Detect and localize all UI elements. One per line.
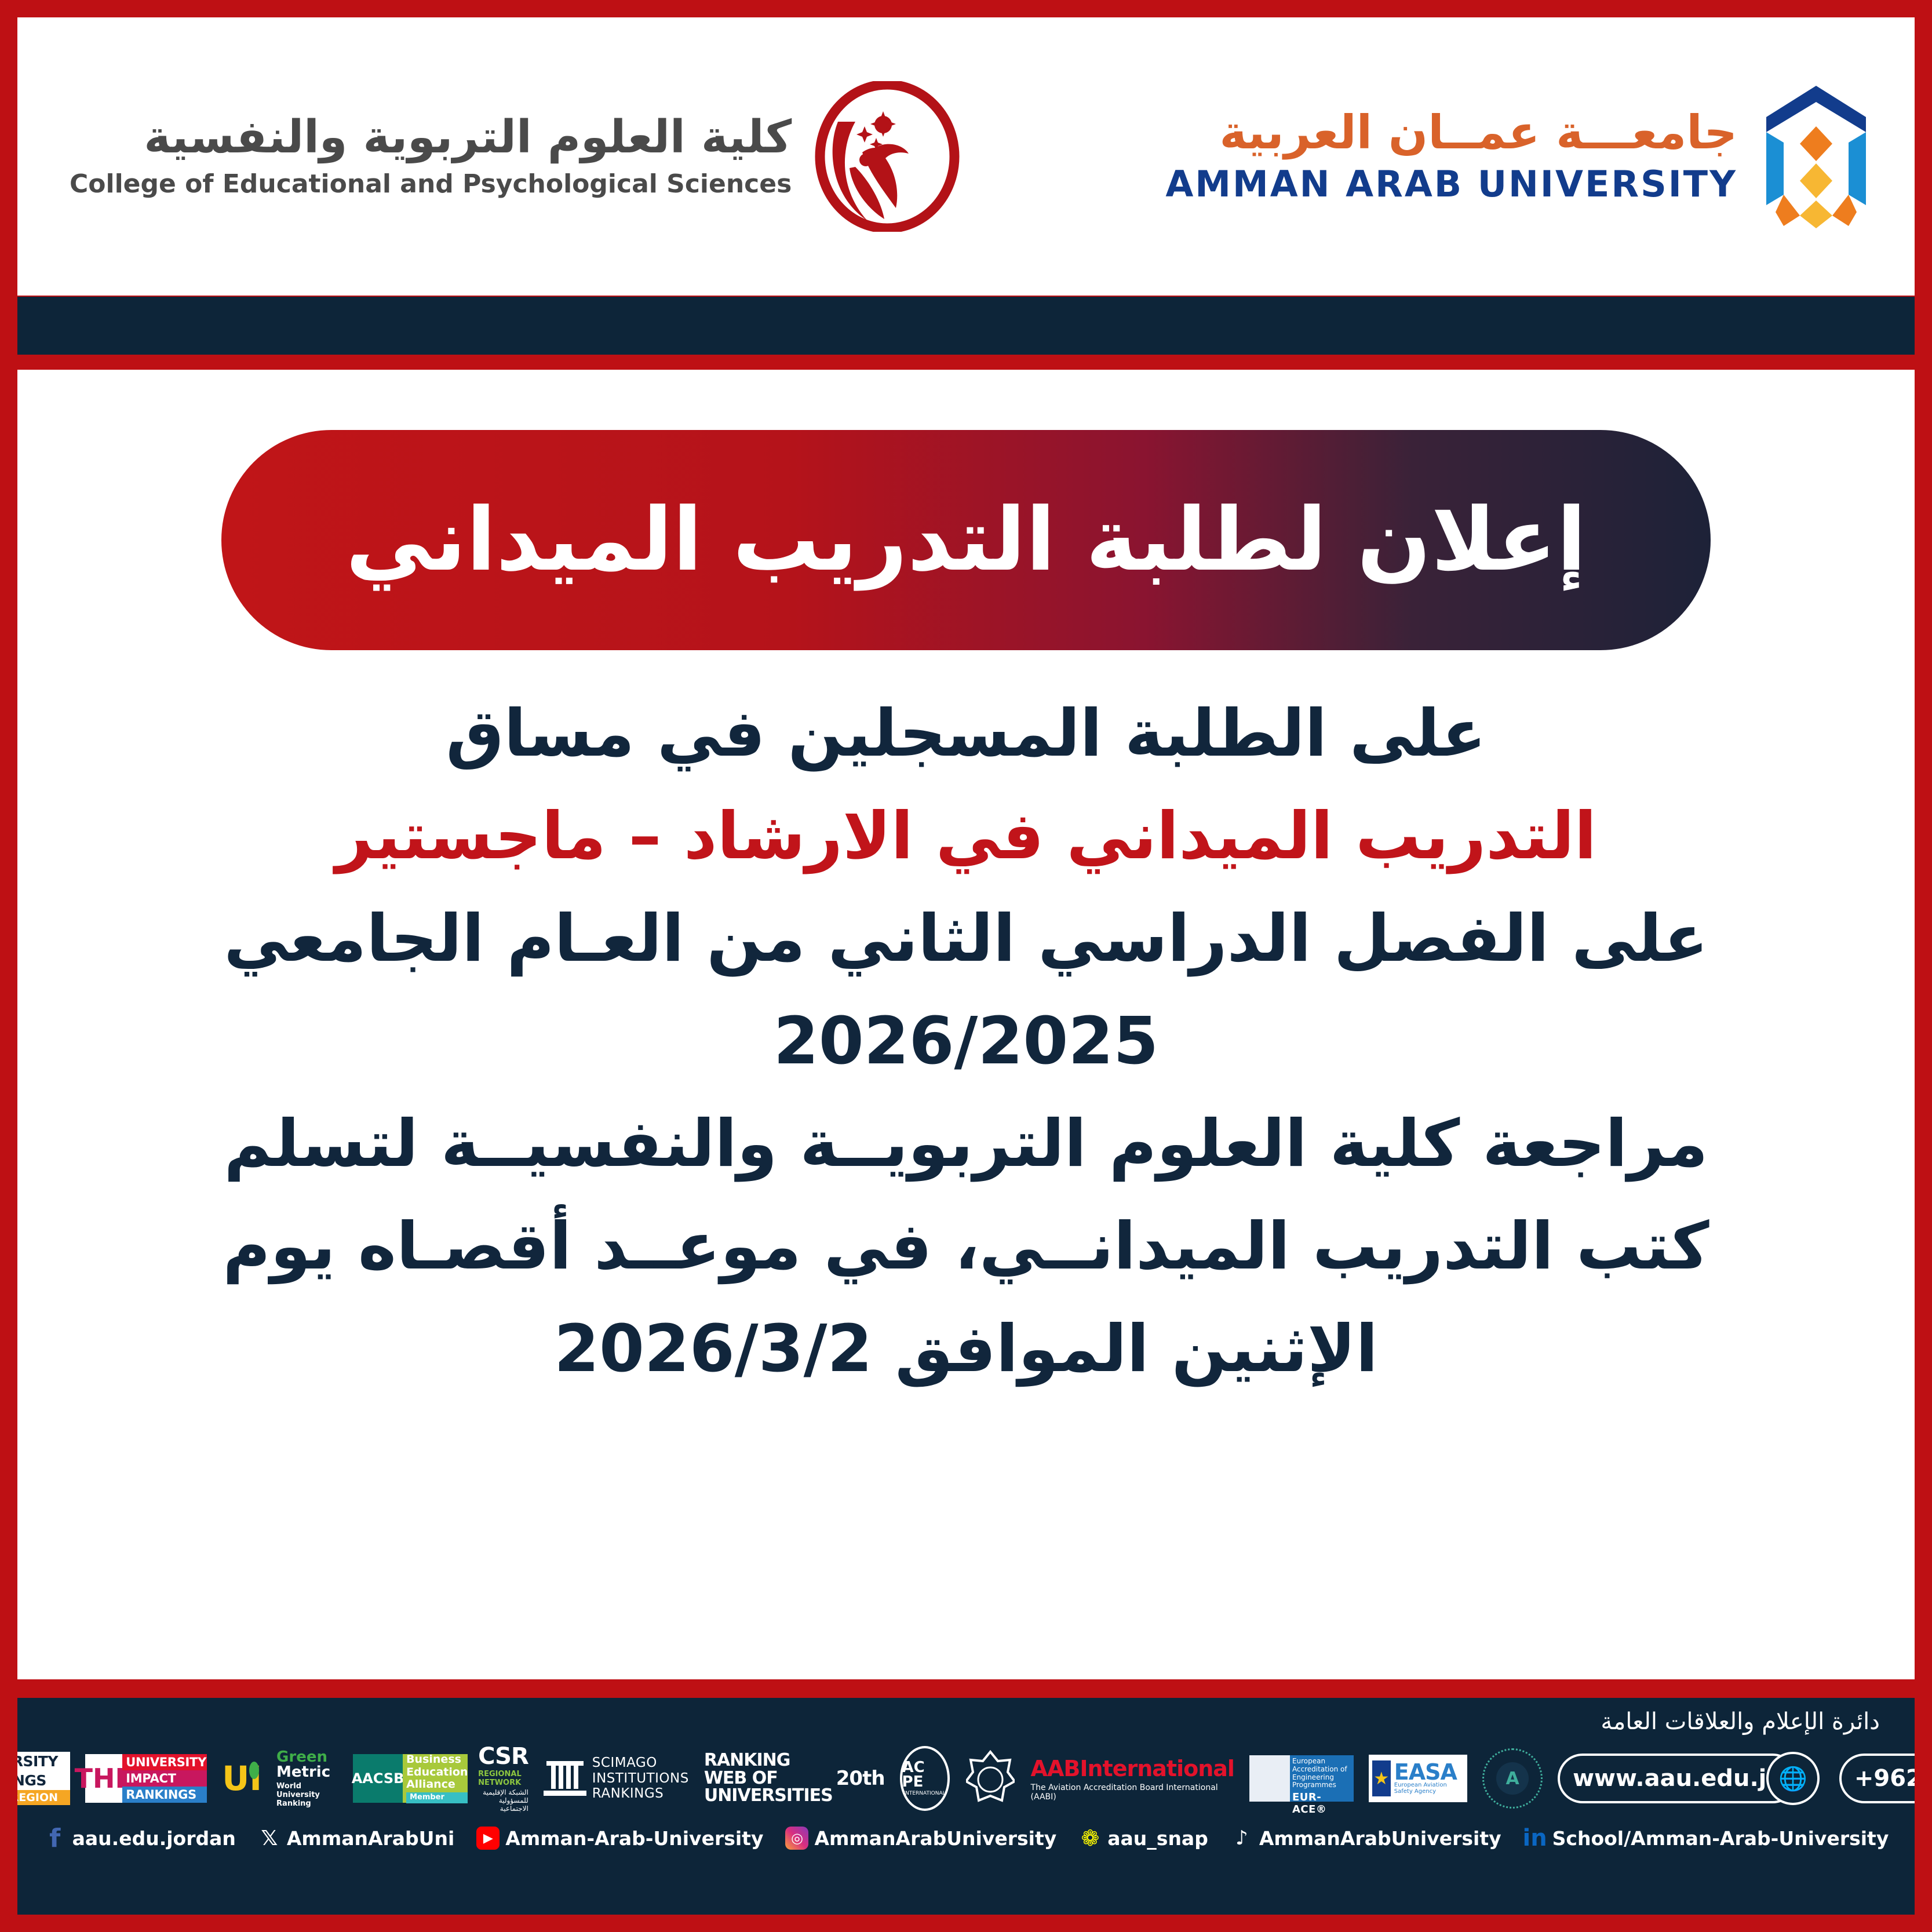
aab-suffix-label: International (1080, 1756, 1234, 1781)
qs-rankings-badge: UNIVERSITY RANKINGS ARAB REGION (17, 1754, 70, 1803)
csr-label: CSR (478, 1745, 528, 1768)
header-navy-divider (17, 297, 1915, 355)
aacsb-member-label: Member (406, 1792, 468, 1803)
easa-label: EASA (1394, 1762, 1464, 1782)
phone-pill[interactable]: +962 6 4791400 📞 (1839, 1754, 1915, 1803)
acpe-badge: AC PE INTERNATIONAL (900, 1754, 950, 1803)
aacsb-alliance-label: Business Education Alliance (406, 1754, 468, 1791)
aab-prefix-label: AAB (1031, 1756, 1080, 1781)
aab-international-badge: AABInternational The Aviation Accreditat… (1031, 1754, 1234, 1803)
aab-sub-label: The Aviation Accreditation Board Interna… (1031, 1783, 1234, 1802)
europe-map-icon (1249, 1755, 1290, 1802)
the-row3: RANKINGS (122, 1787, 207, 1803)
instagram-icon: ◎ (785, 1827, 808, 1850)
acpe-sub-label: INTERNATIONAL (903, 1791, 945, 1796)
social-links-row: f aau.edu.jordan 𝕏 AmmanArabUni ▶ Amman-… (17, 1827, 1915, 1850)
islamic-accreditation-badge (965, 1754, 1016, 1803)
social-item-instagram[interactable]: ◎ AmmanArabUniversity (785, 1827, 1056, 1850)
poster-header: جامعـــة عمــان العربية AMMAN ARAB UNIVE… (17, 17, 1915, 296)
csr-sub-label: REGIONAL NETWORK (478, 1770, 528, 1787)
college-seal-icon (815, 81, 960, 232)
eur-ace-badge: European Accreditation of Engineering Pr… (1249, 1754, 1354, 1803)
qs-row3: ARAB REGION (17, 1790, 70, 1805)
announcement-text-block: على الطلبة المسجلين في مساق التدريب المي… (17, 683, 1915, 1401)
social-item-youtube[interactable]: ▶ Amman-Arab-University (476, 1827, 763, 1850)
scimago-label: SCIMAGO INSTITUTIONS RANKINGS (592, 1755, 689, 1801)
the-impact-rankings-badge: THE UNIVERSITY IMPACT RANKINGS (85, 1754, 207, 1803)
university-name-arabic: جامعـــة عمــان العربية (1219, 108, 1737, 157)
announcement-line-3: على الفصل الدراسي الثاني من العـام الجام… (17, 888, 1915, 990)
scimago-pillars-icon (544, 1761, 586, 1796)
social-item-linkedin[interactable]: in School/Amman-Arab-University (1523, 1827, 1889, 1850)
college-titles: كلية العلوم التربوية والنفسية College of… (70, 114, 792, 199)
facebook-icon: f (43, 1827, 67, 1850)
the-logo-label: THE (85, 1754, 122, 1803)
eight-point-star-icon (966, 1749, 1015, 1807)
youtube-handle: Amman-Arab-University (505, 1827, 763, 1850)
college-name-english: College of Educational and Psychological… (70, 169, 792, 199)
social-item-facebook[interactable]: f aau.edu.jordan (43, 1827, 236, 1850)
eurace-desc-label: European Accreditation of Engineering Pr… (1292, 1757, 1347, 1789)
announcement-line-7: الإثنين الموافق 2026/3/2 (17, 1298, 1915, 1401)
acpe-label: AC PE (902, 1760, 947, 1789)
aacsb-badge: AACSB Business Education Alliance Member (353, 1754, 463, 1803)
college-logo-block: كلية العلوم التربوية والنفسية College of… (70, 81, 960, 232)
media-department-label: دائرة الإعلام والعلاقات العامة (1601, 1708, 1880, 1735)
eurace-label: EUR-ACE® (1292, 1792, 1351, 1816)
globe-icon: 🌐 (1766, 1752, 1820, 1805)
aacsb-label: AACSB (353, 1754, 403, 1803)
tiktok-handle: AmmanArabUniversity (1259, 1827, 1501, 1850)
linkedin-icon: in (1523, 1827, 1547, 1850)
announcement-line-4: 2026/2025 (17, 990, 1915, 1093)
qs-row1: UNIVERSITY (17, 1752, 70, 1771)
csr-arabic-label: الشبكة الإقليمية للمسؤولية الاجتماعية (478, 1788, 528, 1813)
announcement-headline-text: إعلان لطلبة التدريب الميداني (345, 490, 1586, 590)
youtube-icon: ▶ (476, 1827, 500, 1850)
announcement-line-6: كتب التدريب الميدانــي، في موعــد أقصـاه… (17, 1195, 1915, 1298)
announcement-line-1: على الطلبة المسجلين في مساق (17, 683, 1915, 785)
college-name-arabic: كلية العلوم التربوية والنفسية (144, 114, 792, 162)
csr-badge: CSR REGIONAL NETWORK الشبكة الإقليمية لل… (478, 1754, 528, 1803)
announcement-line-2: التدريب الميداني في الارشاد – ماجستير (17, 785, 1915, 888)
social-item-x-twitter[interactable]: 𝕏 AmmanArabUni (258, 1827, 454, 1850)
scimago-badge: SCIMAGO INSTITUTIONS RANKINGS (544, 1754, 689, 1803)
facebook-handle: aau.edu.jordan (72, 1827, 236, 1850)
ui-greenmetric-badge: UI Green Metric World University Ranking (222, 1754, 338, 1803)
the-row2: IMPACT (122, 1770, 207, 1787)
greenmetric-green-label: Green (276, 1749, 338, 1765)
ranking-web-badge: RANKING WEB OF UNIVERSITIES 20th (704, 1754, 885, 1803)
announcement-line-5: مراجعة كلية العلوم التربويــة والنفسيــة… (17, 1093, 1915, 1195)
instagram-handle: AmmanArabUniversity (814, 1827, 1056, 1850)
accreditation-badges-row: DNV QA UNIVERSITY RANKINGS ARAB REGION T… (17, 1754, 1915, 1803)
easa-sub-label: European Aviation Safety Agency (1394, 1782, 1464, 1795)
ranking-web-label: RANKING WEB OF UNIVERSITIES (704, 1752, 833, 1805)
university-titles: جامعـــة عمــان العربية AMMAN ARAB UNIVE… (1165, 108, 1737, 205)
accreditation-in-progress-badge: A (1482, 1754, 1543, 1803)
poster-footer: دائرة الإعلام والعلاقات العامة DNV QA UN… (17, 1698, 1915, 1915)
accreditation-ring-icon (1482, 1748, 1543, 1809)
x-twitter-handle: AmmanArabUni (287, 1827, 454, 1850)
the-row1: UNIVERSITY (122, 1754, 207, 1770)
snapchat-icon: ❁ (1078, 1827, 1102, 1850)
x-twitter-icon: 𝕏 (258, 1827, 281, 1850)
social-item-snapchat[interactable]: ❁ aau_snap (1078, 1827, 1208, 1850)
easa-badge: ★ EASA European Aviation Safety Agency (1369, 1754, 1467, 1803)
poster-root: جامعـــة عمــان العربية AMMAN ARAB UNIVE… (0, 0, 1932, 1932)
website-pill[interactable]: www.aau.edu.jo 🌐 (1558, 1754, 1798, 1803)
aau-hexagon-logo-icon (1758, 81, 1874, 232)
university-name-english: AMMAN ARAB UNIVERSITY (1165, 163, 1737, 205)
green-globe-icon (249, 1762, 259, 1779)
greenmetric-metric-label: Metric (276, 1765, 338, 1780)
university-logo-block: جامعـــة عمــان العربية AMMAN ARAB UNIVE… (1165, 81, 1874, 232)
tiktok-icon: ♪ (1230, 1827, 1253, 1850)
easa-flag-icon: ★ (1372, 1760, 1391, 1796)
ranking-web-anniversary: 20th (836, 1769, 885, 1789)
phone-label: +962 6 4791400 (1854, 1765, 1915, 1792)
linkedin-handle: School/Amman-Arab-University (1552, 1827, 1889, 1850)
qs-row2: RANKINGS (17, 1771, 70, 1790)
announcement-headline-pill: إعلان لطلبة التدريب الميداني (221, 430, 1711, 650)
announcement-body: إعلان لطلبة التدريب الميداني على الطلبة … (17, 370, 1915, 1679)
website-label: www.aau.edu.jo (1573, 1765, 1782, 1792)
snapchat-handle: aau_snap (1107, 1827, 1208, 1850)
social-item-tiktok[interactable]: ♪ AmmanArabUniversity (1230, 1827, 1501, 1850)
greenmetric-sub-label: World University Ranking (276, 1782, 338, 1808)
